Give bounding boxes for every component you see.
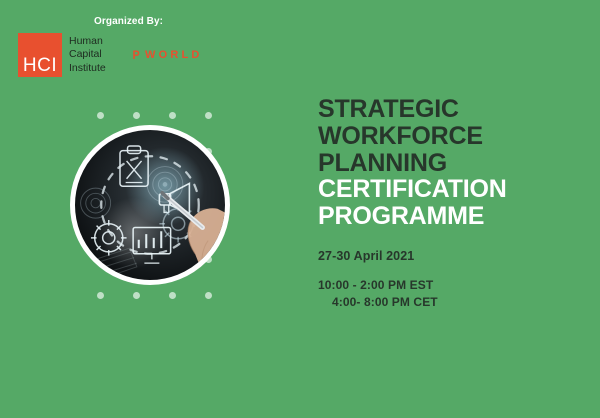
photo-illustration xyxy=(75,130,225,280)
decorative-dot xyxy=(169,292,176,299)
hci-name-line-1: Human xyxy=(69,35,106,48)
pworld-logo: P WORLD xyxy=(132,48,203,62)
headline-line-5: PROGRAMME xyxy=(318,203,586,230)
logos-row: HCI Human Capital Institute P WORLD xyxy=(18,33,258,77)
decorative-dot xyxy=(169,112,176,119)
headline-line-1: STRATEGIC xyxy=(318,96,586,123)
event-dates: 27-30 April 2021 xyxy=(318,249,586,263)
organizers-block: Organized By: HCI Human Capital Institut… xyxy=(18,16,258,77)
hci-logo: HCI Human Capital Institute xyxy=(18,33,106,77)
decorative-dot xyxy=(205,292,212,299)
event-time-est: 10:00 - 2:00 PM EST xyxy=(318,277,586,294)
headline-light: CERTIFICATION PROGRAMME xyxy=(318,176,586,230)
circular-photo xyxy=(70,125,230,285)
event-time-cet: 4:00- 8:00 PM CET xyxy=(318,294,586,311)
decorative-dot xyxy=(133,112,140,119)
decorative-dot xyxy=(133,292,140,299)
decorative-dot xyxy=(205,112,212,119)
pworld-wordmark: WORLD xyxy=(145,49,203,61)
event-times: 10:00 - 2:00 PM EST 4:00- 8:00 PM CET xyxy=(318,277,586,311)
organized-by-label: Organized By: xyxy=(94,16,258,27)
poster-canvas: Organized By: HCI Human Capital Institut… xyxy=(0,0,600,418)
headline-dark: STRATEGIC WORKFORCE PLANNING xyxy=(318,96,586,176)
headline-line-2: WORKFORCE xyxy=(318,123,586,150)
hci-name-line-3: Institute xyxy=(69,62,106,75)
hci-name-line-2: Capital xyxy=(69,48,106,61)
headline-line-3: PLANNING xyxy=(318,150,586,177)
decorative-dot xyxy=(97,112,104,119)
text-column: STRATEGIC WORKFORCE PLANNING CERTIFICATI… xyxy=(318,96,586,311)
hci-wordmark: Human Capital Institute xyxy=(69,35,106,75)
decorative-dot xyxy=(97,292,104,299)
pworld-p-icon: P xyxy=(132,48,142,62)
headline-line-4: CERTIFICATION xyxy=(318,176,586,203)
hci-mark-text: HCI xyxy=(23,56,57,75)
hci-mark-icon: HCI xyxy=(18,33,62,77)
